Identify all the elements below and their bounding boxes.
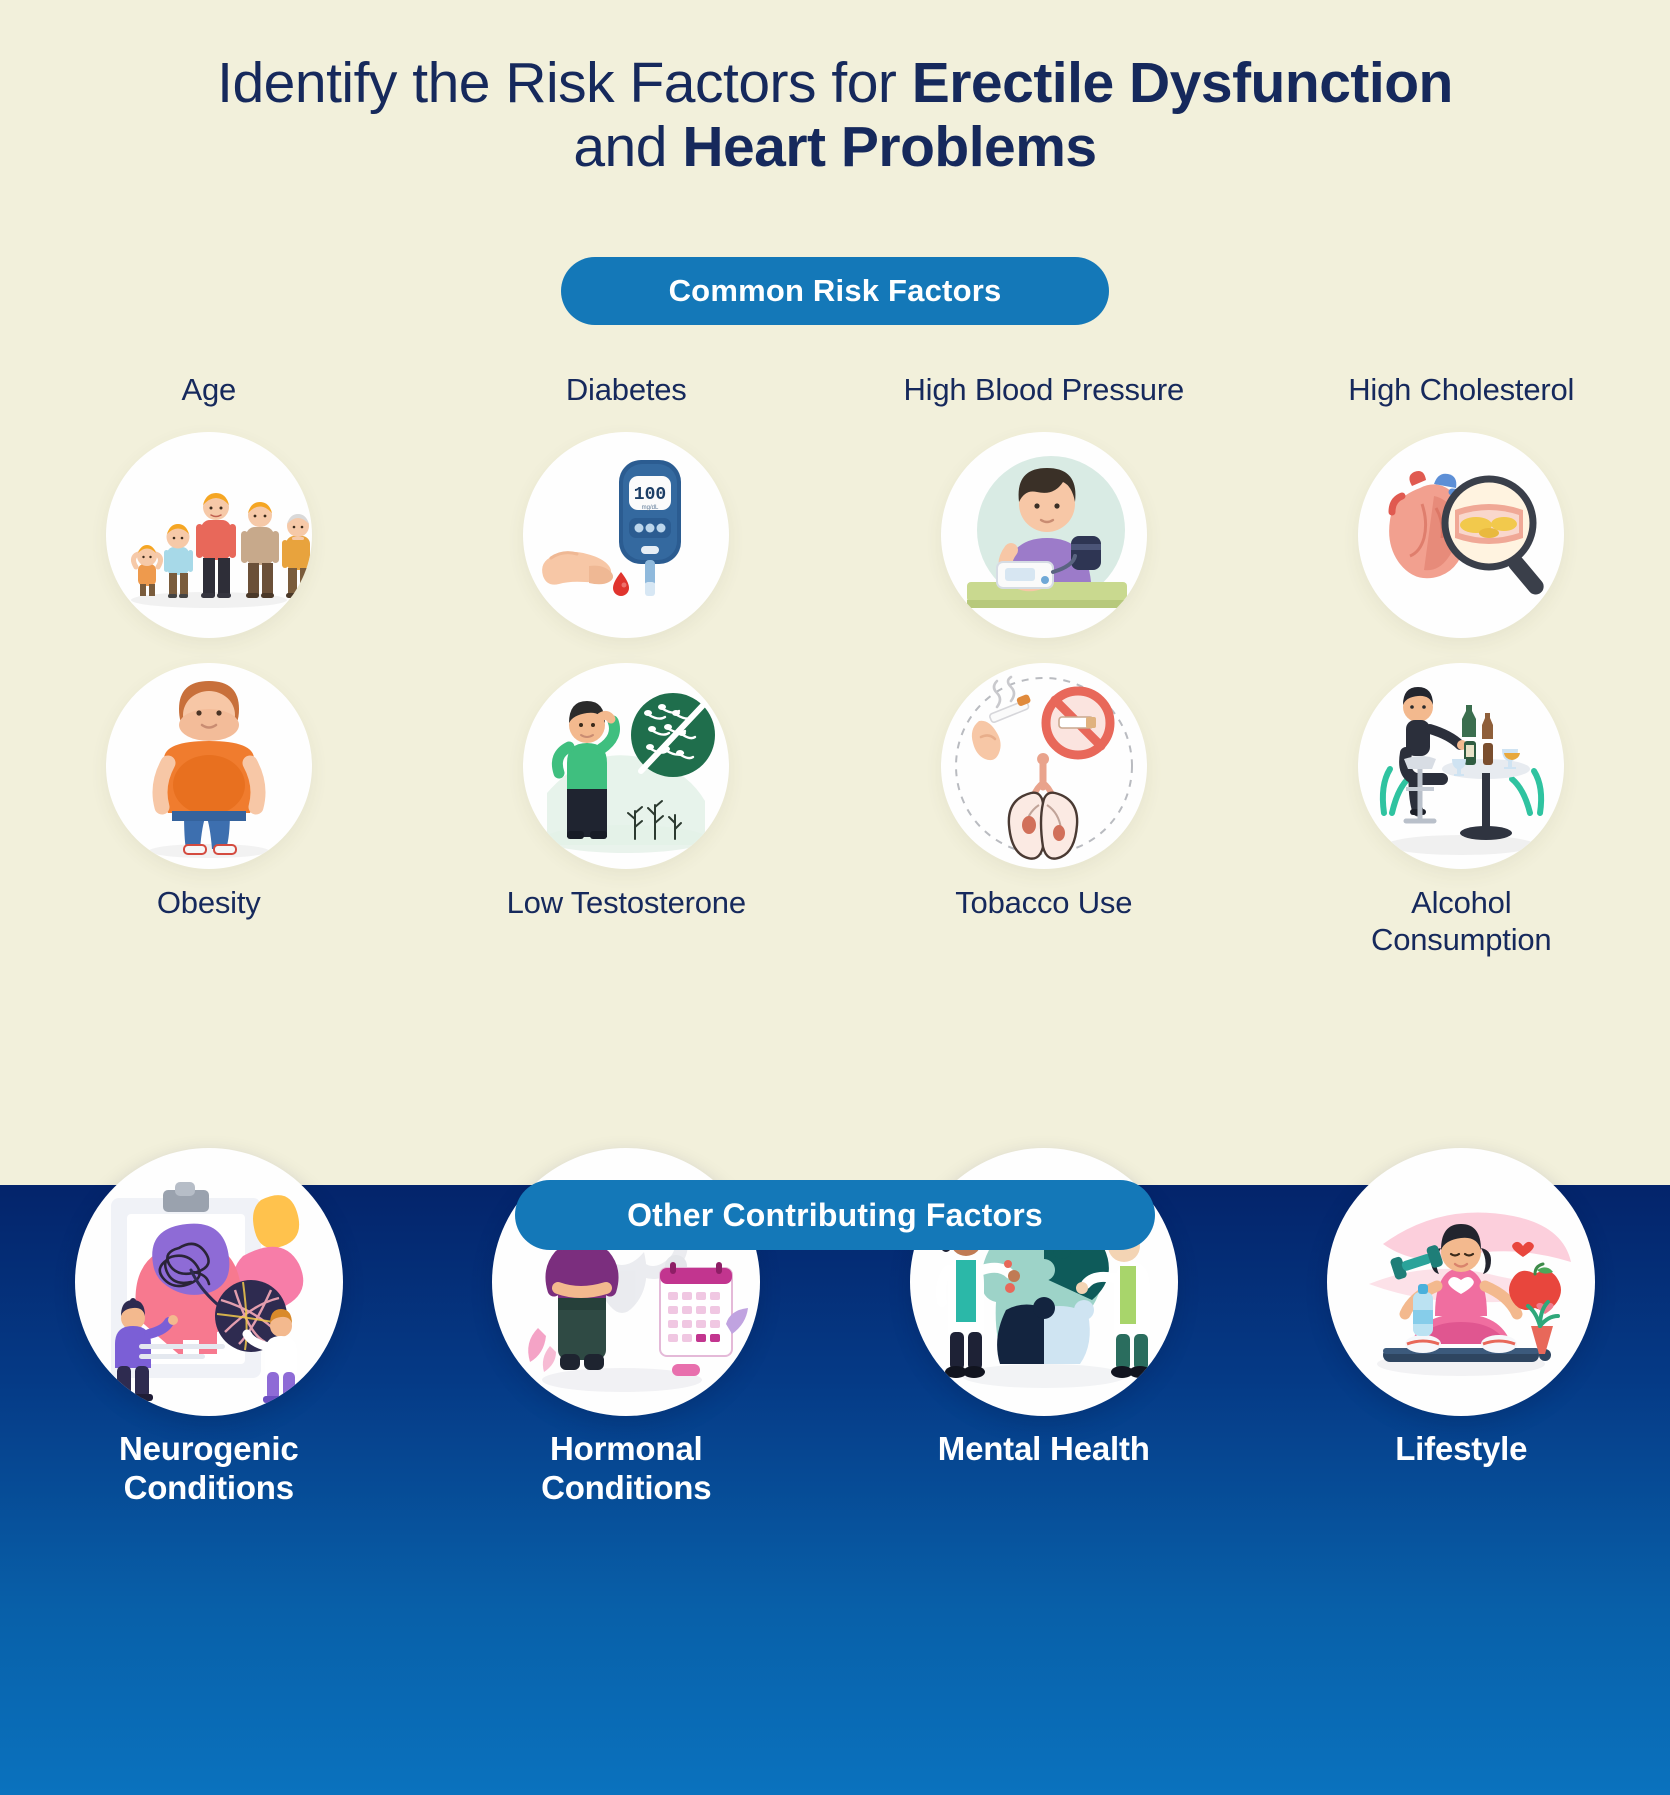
svg-text:mg/dL: mg/dL	[642, 505, 659, 511]
label-cell-lifestyle: Lifestyle	[1253, 1430, 1670, 1508]
factor-label-hormonal-line2: Conditions	[541, 1469, 711, 1508]
risk-label-low-testosterone: Low Testosterone	[507, 885, 746, 922]
top-row-labels: Age Diabetes High Blood Pressure High Ch…	[0, 372, 1670, 409]
other-contributing-factors-badge: Other Contributing Factors	[515, 1180, 1155, 1250]
alcohol-bar-table-icon	[1358, 663, 1564, 869]
blood-pressure-monitor-icon	[941, 432, 1147, 638]
obese-person-icon	[106, 663, 312, 869]
icon-cell-high-blood-pressure	[835, 432, 1253, 638]
title-part-2: Erectile Dysfunction	[912, 51, 1453, 115]
risk-label-diabetes: Diabetes	[566, 372, 687, 409]
other-factors-labels: Neurogenic Conditions Hormonal Condition…	[0, 1430, 1670, 1508]
label-cell-obesity: Obesity	[0, 885, 418, 958]
icon-cell-neurogenic	[0, 1148, 418, 1416]
low-testosterone-man-icon	[523, 663, 729, 869]
label-cell-high-cholesterol: High Cholesterol	[1253, 372, 1670, 409]
icon-cell-lifestyle	[1253, 1148, 1670, 1416]
icon-cell-tobacco-use	[835, 663, 1253, 869]
bottom-row-icons	[0, 663, 1670, 869]
icon-cell-high-cholesterol	[1253, 432, 1670, 638]
label-cell-high-blood-pressure: High Blood Pressure	[835, 372, 1253, 409]
bottom-row-labels: Obesity Low Testosterone Tobacco Use Alc…	[0, 885, 1670, 958]
label-cell-age: Age	[0, 372, 418, 409]
brain-clipboard-tangle-icon	[75, 1148, 343, 1416]
title-part-3: and	[573, 115, 682, 179]
age-group-figures-icon	[106, 432, 312, 638]
label-cell-diabetes: Diabetes	[418, 372, 836, 409]
risk-label-high-cholesterol: High Cholesterol	[1348, 372, 1574, 409]
glucose-meter-icon: 100 mg/dL	[523, 432, 729, 638]
factor-label-mental-health: Mental Health	[938, 1430, 1150, 1469]
icon-cell-low-testosterone	[418, 663, 836, 869]
risk-label-high-blood-pressure: High Blood Pressure	[903, 372, 1184, 409]
yoga-fitness-woman-icon	[1327, 1148, 1595, 1416]
page-title: Identify the Risk Factors for Erectile D…	[0, 52, 1670, 180]
icon-cell-diabetes: 100 mg/dL	[418, 432, 836, 638]
risk-label-age: Age	[181, 372, 236, 409]
icon-cell-alcohol	[1253, 663, 1670, 869]
risk-label-tobacco-use: Tobacco Use	[955, 885, 1132, 922]
factor-label-neurogenic-line1: Neurogenic	[119, 1430, 299, 1469]
label-cell-hormonal: Hormonal Conditions	[418, 1430, 836, 1508]
icon-cell-obesity	[0, 663, 418, 869]
factor-label-neurogenic-line2: Conditions	[124, 1469, 294, 1508]
risk-label-alcohol-line2: Consumption	[1371, 922, 1551, 959]
heart-magnifier-artery-icon	[1358, 432, 1564, 638]
label-cell-low-testosterone: Low Testosterone	[418, 885, 836, 958]
factor-label-hormonal-line1: Hormonal	[550, 1430, 702, 1469]
icon-cell-age	[0, 432, 418, 638]
svg-text:100: 100	[634, 485, 666, 505]
label-cell-mental-health: Mental Health	[835, 1430, 1253, 1508]
infographic-page: Identify the Risk Factors for Erectile D…	[0, 0, 1670, 1795]
risk-label-obesity: Obesity	[157, 885, 261, 922]
label-cell-tobacco-use: Tobacco Use	[835, 885, 1253, 958]
common-risk-factors-badge: Common Risk Factors	[561, 257, 1109, 325]
label-cell-neurogenic: Neurogenic Conditions	[0, 1430, 418, 1508]
no-smoking-lungs-icon	[941, 663, 1147, 869]
factor-label-lifestyle: Lifestyle	[1395, 1430, 1527, 1469]
title-part-1: Identify the Risk Factors for	[217, 51, 912, 115]
title-part-4: Heart Problems	[682, 115, 1096, 179]
risk-label-alcohol-line1: Alcohol	[1411, 885, 1511, 922]
top-row-icons: 100 mg/dL	[0, 432, 1670, 638]
label-cell-alcohol: Alcohol Consumption	[1253, 885, 1670, 958]
